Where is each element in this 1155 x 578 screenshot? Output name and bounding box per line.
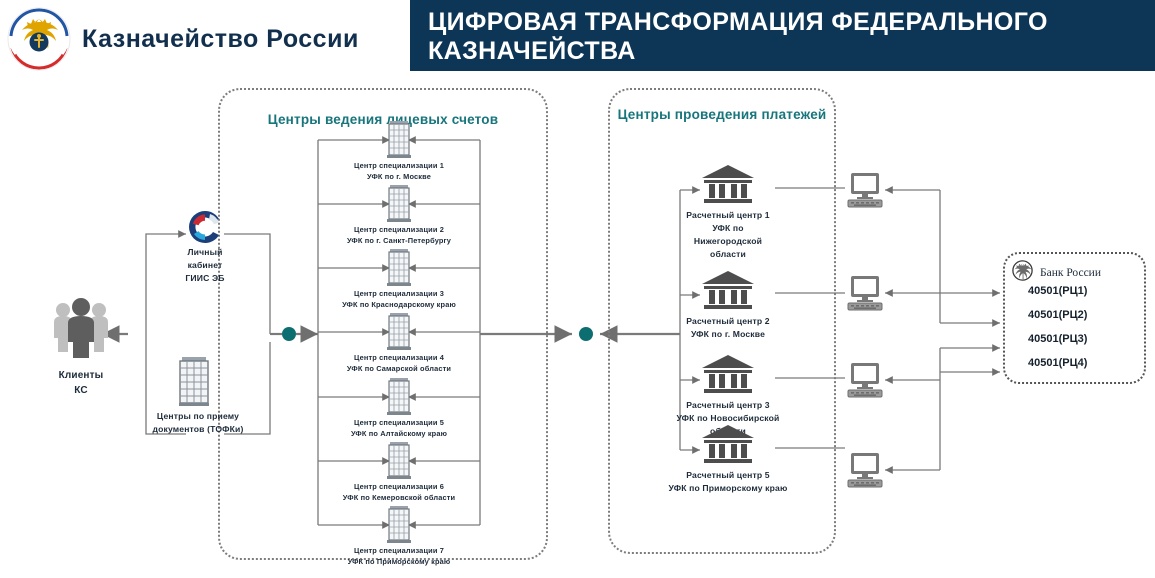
bank-columns-icon: [700, 270, 756, 317]
node-document-centers-label: Центры по приему документов (ТОФКи): [131, 410, 265, 436]
bank-of-russia-emblem-icon: [1012, 260, 1033, 286]
bank-account-2: 40501(РЦ2): [1028, 309, 1087, 321]
node-title: Центр специализации 2: [309, 225, 489, 236]
bank-account-1: 40501(РЦ1): [1028, 285, 1087, 297]
node-payment-center-2: Расчетный центр 2УФК по г. Москве: [638, 315, 818, 341]
node-specialization-center-2: Центр специализации 2УФК по г. Санкт-Пет…: [309, 225, 489, 246]
node-title: Центр специализации 5: [309, 418, 489, 429]
node-specialization-center-3: Центр специализации 3УФК по Краснодарско…: [309, 289, 489, 310]
group-payments-title: Центры проведения платежей: [610, 106, 834, 124]
page-header: Казначейство России ЦИФРОВАЯ ТРАНСФОРМАЦ…: [0, 0, 1155, 80]
node-title: Центр специализации 3: [309, 289, 489, 300]
node-specialization-center-1: Центр специализации 1УФК по г. Москве: [309, 161, 489, 182]
bank-columns-icon: [700, 354, 756, 401]
diagram-canvas: Центры ведения лицевых счетов Центры про…: [0, 80, 1155, 578]
people-group-icon: [52, 298, 110, 363]
node-subtitle: УФК по Приморскому краю: [638, 482, 818, 495]
page-title: ЦИФРОВАЯ ТРАНСФОРМАЦИЯ ФЕДЕРАЛЬНОГО КАЗН…: [428, 8, 1143, 67]
group-accounts-title: Центры ведения лицевых счетов: [220, 112, 546, 127]
office-tower-icon: [386, 377, 412, 422]
node-title: Расчетный центр 3: [638, 399, 818, 412]
office-tower-icon: [386, 312, 412, 357]
node-subtitle: УФК по Алтайскому краю: [309, 429, 489, 440]
node-personal-cabinet-label: Личный кабинет ГИИС ЭБ: [163, 246, 247, 285]
document-center-building-icon: [177, 355, 211, 412]
bank-account-3: 40501(РЦ3): [1028, 333, 1087, 345]
node-specialization-center-6: Центр специализации 6УФК по Кемеровской …: [309, 482, 489, 503]
office-tower-icon: [386, 120, 412, 165]
connector-dot-left: [281, 326, 297, 347]
node-title: Центр специализации 4: [309, 353, 489, 364]
office-tower-icon: [386, 248, 412, 293]
desktop-computer-icon[interactable]: [845, 362, 885, 403]
bank-account-4: 40501(РЦ4): [1028, 357, 1087, 369]
node-subtitle: УФК по Приморскому краю: [309, 557, 489, 568]
node-personal-cabinet[interactable]: Личный кабинет ГИИС ЭБ: [163, 246, 247, 285]
node-title: Центр специализации 7: [309, 546, 489, 557]
bank-of-russia-name: Банк России: [1040, 267, 1101, 279]
office-tower-icon: [386, 184, 412, 229]
node-title: Расчетный центр 1: [638, 209, 818, 222]
node-subtitle: УФК по г. Москве: [309, 172, 489, 183]
node-payment-center-1: Расчетный центр 1УФК по Нижегородской об…: [638, 209, 818, 261]
russian-treasury-emblem-icon: [6, 6, 72, 72]
header-title-bar: ЦИФРОВАЯ ТРАНСФОРМАЦИЯ ФЕДЕРАЛЬНОГО КАЗН…: [410, 0, 1155, 71]
node-subtitle: УФК по Самарской области: [309, 364, 489, 375]
node-subtitle: УФК по г. Санкт-Петербургу: [309, 236, 489, 247]
bank-columns-icon: [700, 164, 756, 211]
desktop-computer-icon[interactable]: [845, 172, 885, 213]
node-title: Центр специализации 1: [309, 161, 489, 172]
office-tower-icon: [386, 441, 412, 486]
node-subtitle: УФК по Кемеровской области: [309, 493, 489, 504]
node-title: Центр специализации 6: [309, 482, 489, 493]
node-title: Расчетный центр 2: [638, 315, 818, 328]
brand-title: Казначейство России: [82, 25, 359, 54]
connector-dot-right: [578, 326, 594, 347]
bank-columns-icon: [700, 424, 756, 471]
desktop-computer-icon[interactable]: [845, 275, 885, 316]
node-specialization-center-7: Центр специализации 7УФК по Приморскому …: [309, 546, 489, 567]
node-title: Расчетный центр 5: [638, 469, 818, 482]
node-specialization-center-5: Центр специализации 5УФК по Алтайскому к…: [309, 418, 489, 439]
gis-eb-logo-icon: [186, 208, 224, 251]
bank-of-russia-header: Банк России: [1012, 260, 1101, 286]
node-subtitle: УФК по г. Москве: [638, 328, 818, 341]
node-payment-center-4: Расчетный центр 5УФК по Приморскому краю: [638, 469, 818, 495]
node-clients: Клиенты КС: [22, 368, 140, 398]
node-clients-label: Клиенты КС: [22, 368, 140, 398]
node-specialization-center-4: Центр специализации 4УФК по Самарской об…: [309, 353, 489, 374]
office-tower-icon: [386, 505, 412, 550]
node-subtitle: УФК по Нижегородской области: [638, 222, 818, 261]
desktop-computer-icon[interactable]: [845, 452, 885, 493]
node-subtitle: УФК по Краснодарскому краю: [309, 300, 489, 311]
node-document-centers: Центры по приему документов (ТОФКи): [131, 410, 265, 436]
